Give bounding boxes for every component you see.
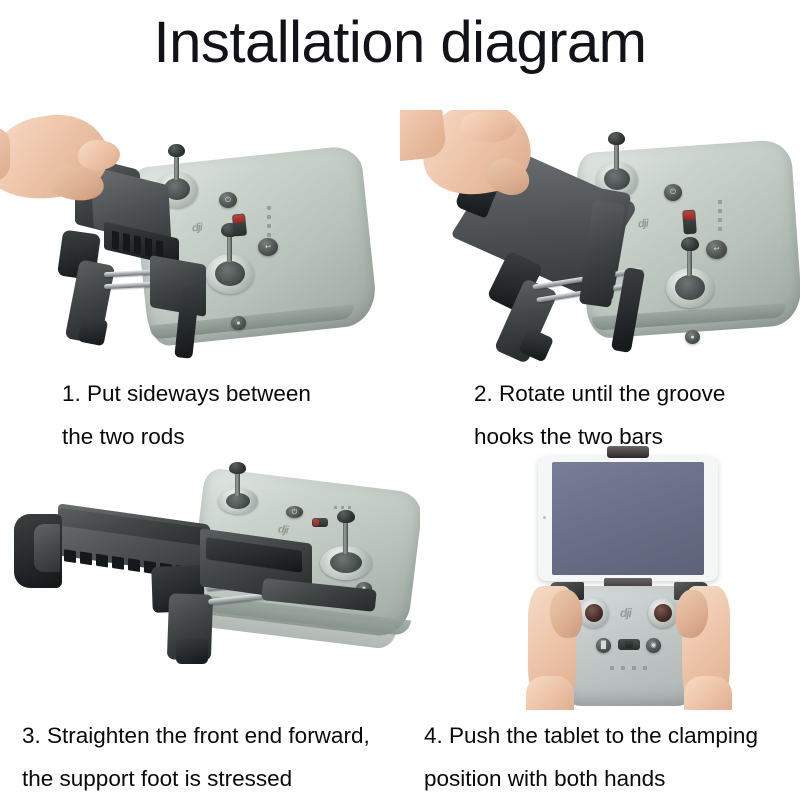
slider-accent xyxy=(313,519,319,526)
power-icon: ⏻ xyxy=(286,506,303,518)
auxiliary-button-2[interactable]: ● xyxy=(685,330,700,344)
led-dot xyxy=(341,506,344,509)
led-dot xyxy=(267,206,271,210)
joystick-right-cup-4[interactable] xyxy=(654,604,672,622)
dji-logo-3: dji xyxy=(277,523,288,536)
rib xyxy=(123,233,130,252)
tablet-screen-4 xyxy=(552,462,704,575)
power-button-1[interactable]: ⏻ xyxy=(219,192,237,208)
led-dot xyxy=(334,506,337,509)
camera-icon: ● xyxy=(231,316,246,330)
scene-step-4: dji ▐▌ ◉ xyxy=(490,440,800,710)
rib xyxy=(80,552,92,566)
rib xyxy=(145,238,152,257)
step-2-caption: 2. Rotate until the groove hooks the two… xyxy=(474,372,725,458)
function-button-right-4[interactable]: ◉ xyxy=(646,638,661,653)
tablet-holder-lip-inner-3[interactable] xyxy=(34,524,60,572)
dji-logo-1: dji xyxy=(191,222,202,235)
joystick-left-knob-2[interactable] xyxy=(608,132,625,145)
joystick-left-cup-4[interactable] xyxy=(585,604,603,622)
led-dot xyxy=(267,224,271,228)
power-button-2[interactable]: ⏻ xyxy=(664,184,682,201)
return-to-home-button-2[interactable]: ↩ xyxy=(706,240,727,259)
mode-slider-4[interactable] xyxy=(618,639,640,650)
rib xyxy=(128,558,140,572)
bracket-base-1 xyxy=(150,255,206,317)
return-home-icon: ↩ xyxy=(258,238,278,256)
joystick-right-rod-3[interactable] xyxy=(343,518,348,554)
return-home-icon: ↩ xyxy=(706,240,727,259)
step-1-photo: ⏻ ↩ ● dji xyxy=(0,110,400,368)
joystick-left-cup-2[interactable] xyxy=(604,168,630,190)
led-dot xyxy=(610,666,614,670)
joystick-right-cup-2[interactable] xyxy=(675,275,705,300)
battery-led-row-4 xyxy=(610,666,647,670)
power-button-3[interactable]: ⏻ xyxy=(286,506,303,518)
joystick-right-knob-2[interactable] xyxy=(681,237,699,251)
dji-logo-4: dji xyxy=(620,606,631,620)
dji-logo-2: dji xyxy=(638,218,649,231)
rib xyxy=(96,554,108,568)
joystick-right-knob-3[interactable] xyxy=(337,510,355,523)
power-icon: ⏻ xyxy=(664,184,682,201)
led-dot xyxy=(621,666,625,670)
rib xyxy=(112,556,124,570)
mode-slider-2[interactable] xyxy=(682,210,697,235)
pause-icon: ▐▌ xyxy=(596,638,611,653)
shutter-icon: ◉ xyxy=(646,638,661,653)
camera-icon: ● xyxy=(685,330,700,344)
auxiliary-button-1[interactable]: ● xyxy=(231,316,246,330)
led-dot xyxy=(718,227,722,231)
mode-slider-3[interactable] xyxy=(312,518,328,527)
power-icon: ⏻ xyxy=(219,192,237,208)
led-dot xyxy=(348,506,351,509)
led-dot xyxy=(718,209,722,213)
slider-accent xyxy=(683,211,695,221)
battery-led-row-2 xyxy=(718,200,722,231)
return-to-home-button-1[interactable]: ↩ xyxy=(258,238,278,256)
battery-led-row-1 xyxy=(267,206,271,237)
joystick-right-cup-3[interactable] xyxy=(330,552,362,573)
led-dot xyxy=(718,200,722,204)
page-title: Installation diagram xyxy=(0,6,800,80)
right-forearm-4 xyxy=(684,676,732,710)
led-dot xyxy=(267,215,271,219)
rib xyxy=(134,235,141,254)
step-4-caption: 4. Push the tablet to the clamping posit… xyxy=(424,714,758,800)
rib xyxy=(64,549,76,563)
step-2-photo: ⏻ ↩ ● dji xyxy=(400,110,800,368)
support-foot-tip-1[interactable] xyxy=(78,316,108,346)
step-3-photo: ⏻ ● dji xyxy=(0,462,420,710)
joystick-right-cup-1[interactable] xyxy=(215,261,245,286)
slider-accent xyxy=(625,641,633,648)
led-dot xyxy=(718,218,722,222)
scene-step-1: ⏻ ↩ ● dji xyxy=(0,110,400,368)
led-dot xyxy=(267,233,271,237)
battery-led-row-3 xyxy=(334,506,351,509)
scene-step-3: ⏻ ● dji xyxy=(0,462,420,710)
rib xyxy=(112,231,119,250)
left-forearm-4 xyxy=(526,676,574,710)
function-button-left-4[interactable]: ▐▌ xyxy=(596,638,611,653)
step-4-photo: dji ▐▌ ◉ xyxy=(490,440,800,710)
led-dot xyxy=(643,666,647,670)
step-3-caption: 3. Straighten the front end forward, the… xyxy=(22,714,370,800)
led-dot xyxy=(632,666,636,670)
tablet-camera-4 xyxy=(543,516,546,519)
step-1-caption: 1. Put sideways between the two rods xyxy=(62,372,311,458)
mode-slider-1[interactable] xyxy=(232,213,247,236)
scene-step-2: ⏻ ↩ ● dji xyxy=(400,110,800,368)
joystick-left-knob-3[interactable] xyxy=(229,462,246,474)
joystick-left-knob-1[interactable] xyxy=(168,144,185,157)
support-foot-tip-3[interactable] xyxy=(176,638,208,664)
slider-accent xyxy=(233,214,245,223)
